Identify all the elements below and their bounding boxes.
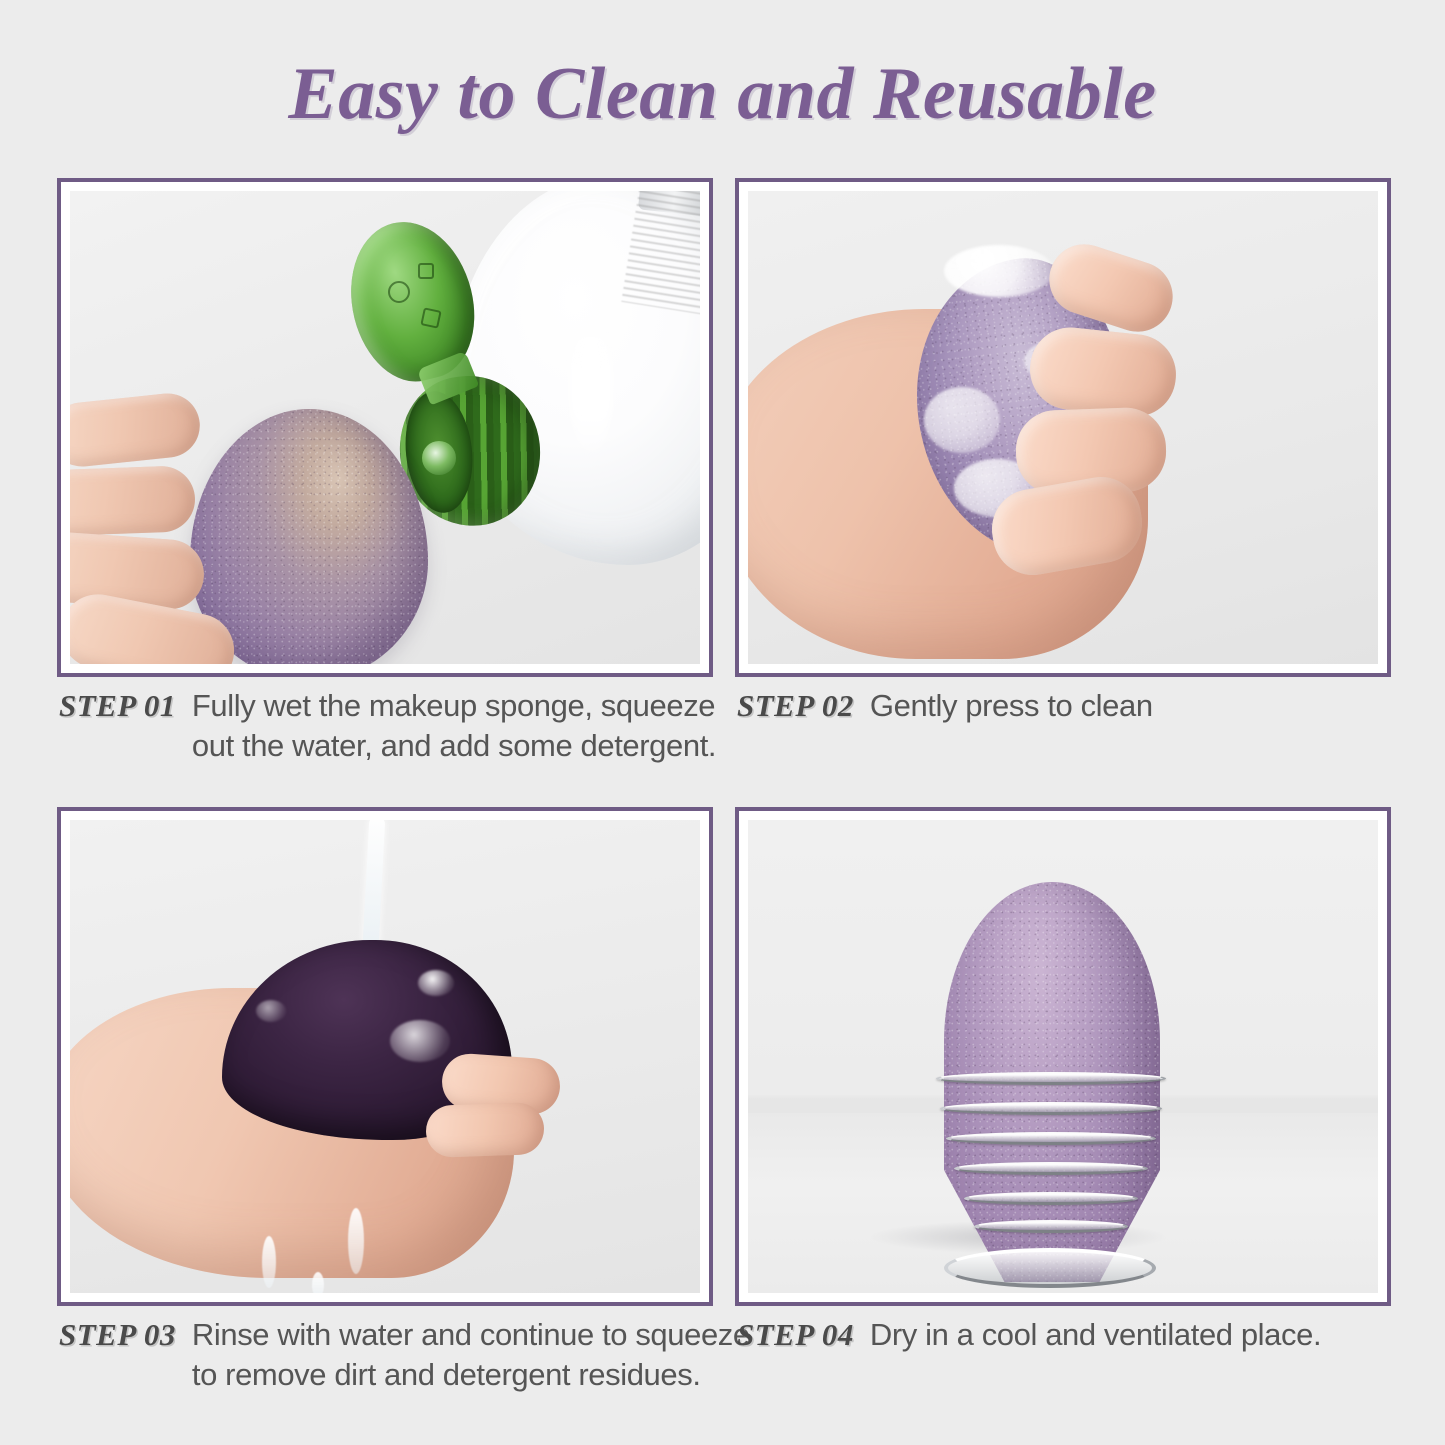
foam-top [944, 245, 1054, 297]
step-3-label: STEP 03 [59, 1315, 176, 1353]
foam-left [924, 387, 1000, 453]
step-4-text: Dry in a cool and ventilated place. [870, 1315, 1437, 1355]
step-cell-1: STEP 01 Fully wet the makeup sponge, squ… [57, 178, 713, 678]
sponge-highlight-3 [256, 1000, 286, 1022]
step-2-text: Gently press to clean [870, 686, 1437, 726]
sponge-highlight-2 [390, 1020, 450, 1062]
water-drip-2 [262, 1236, 276, 1288]
spiral-coil-5 [964, 1192, 1138, 1205]
page-title: Easy to Clean and Reusable [0, 52, 1445, 137]
cap-spout-icon [422, 441, 456, 475]
spiral-coil-2 [940, 1102, 1162, 1115]
step-2-caption: STEP 02 Gently press to clean [737, 686, 1437, 726]
step-2-photo-frame [735, 178, 1391, 677]
step-2-photo [748, 191, 1378, 664]
step-cell-2: STEP 02 Gently press to clean [735, 178, 1391, 678]
water-droplet [312, 1272, 324, 1293]
spiral-coil-6 [974, 1220, 1128, 1233]
step-1-text: Fully wet the makeup sponge, squeeze out… [192, 686, 759, 765]
step-1-caption: STEP 01 Fully wet the makeup sponge, squ… [59, 686, 759, 765]
sponge-highlight-1 [418, 970, 454, 996]
infographic-page: Easy to Clean and Reusable [0, 0, 1445, 1445]
steps-grid: STEP 01 Fully wet the makeup sponge, squ… [57, 178, 1391, 1440]
spiral-coil-1 [936, 1072, 1166, 1085]
finger-middle [70, 465, 196, 537]
step-3-photo [70, 820, 700, 1293]
spiral-coil-4 [954, 1162, 1148, 1175]
step-3-photo-frame [57, 807, 713, 1306]
lid-symbol-square-icon [418, 263, 434, 279]
finger-middle [425, 1102, 545, 1158]
step-1-label: STEP 01 [59, 686, 176, 724]
step-3-text: Rinse with water and continue to squeeze… [192, 1315, 759, 1394]
bottle-highlight-icon [570, 311, 612, 461]
step-4-caption: STEP 04 Dry in a cool and ventilated pla… [737, 1315, 1437, 1355]
lid-symbol-circle-icon [388, 281, 410, 303]
step-1-photo-frame [57, 178, 713, 677]
step-cell-4: STEP 04 Dry in a cool and ventilated pla… [735, 807, 1391, 1307]
step-2-label: STEP 02 [737, 686, 854, 724]
step-4-label: STEP 04 [737, 1315, 854, 1353]
step-3-caption: STEP 03 Rinse with water and continue to… [59, 1315, 759, 1394]
step-1-photo [70, 191, 700, 664]
spiral-coil-3 [946, 1132, 1156, 1145]
step-cell-3: STEP 03 Rinse with water and continue to… [57, 807, 713, 1307]
spiral-stand-base [944, 1248, 1156, 1288]
lid-symbol-triangle-icon [420, 307, 441, 328]
step-4-photo [748, 820, 1378, 1293]
step-4-photo-frame [735, 807, 1391, 1306]
water-drip-1 [348, 1208, 364, 1274]
